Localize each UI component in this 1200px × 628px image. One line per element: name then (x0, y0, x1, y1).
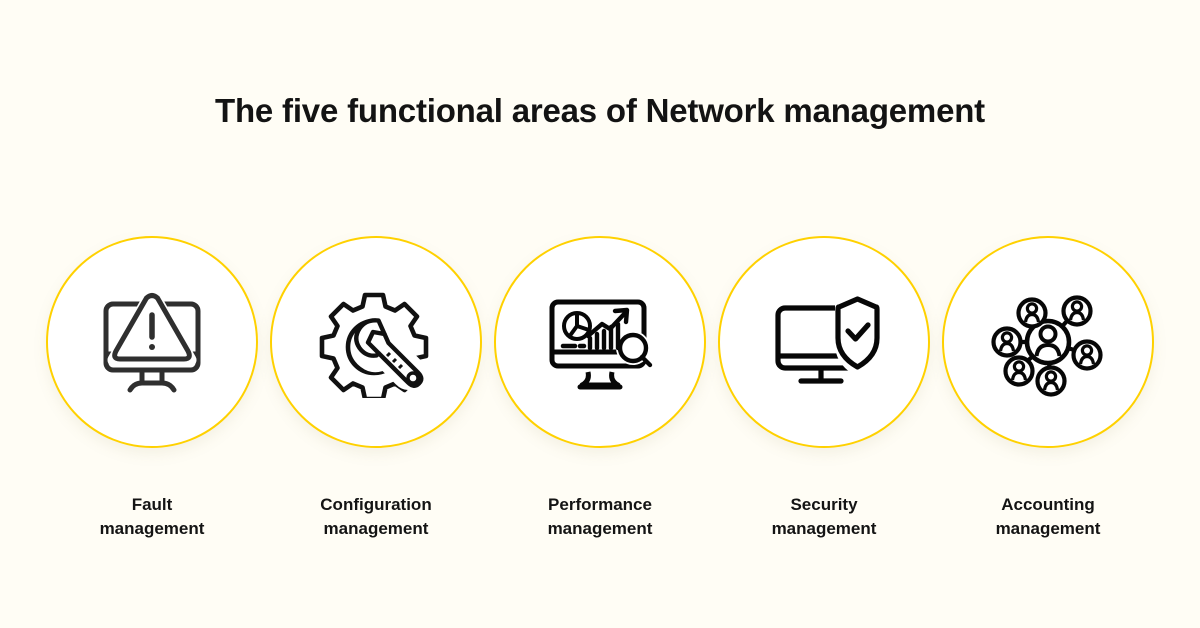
icon-circle (270, 236, 482, 448)
card-label-line1: Configuration (320, 495, 431, 514)
card-label-line2: management (772, 517, 877, 541)
card-label-line2: management (320, 517, 431, 541)
monitor-warning-icon (92, 286, 212, 398)
card-label-line1: Performance (548, 495, 652, 514)
icon-circle (718, 236, 930, 448)
icon-circle (942, 236, 1154, 448)
user-network-icon (988, 286, 1108, 398)
card-fault-management: Fault management (46, 236, 258, 541)
icon-circle (494, 236, 706, 448)
card-label: Fault management (100, 493, 205, 541)
icon-circle (46, 236, 258, 448)
card-label-line2: management (548, 517, 653, 541)
cards-row: Fault management (46, 236, 1154, 541)
card-configuration-management: Configuration management (270, 236, 482, 541)
card-label: Configuration management (320, 493, 431, 541)
card-label: Security management (772, 493, 877, 541)
page-title: The five functional areas of Network man… (0, 92, 1200, 130)
card-label: Accounting management (996, 493, 1101, 541)
card-accounting-management: Accounting management (942, 236, 1154, 541)
card-performance-management: Performance management (494, 236, 706, 541)
card-label: Performance management (548, 493, 653, 541)
card-security-management: Security management (718, 236, 930, 541)
card-label-line2: management (996, 517, 1101, 541)
gear-wrench-icon (316, 286, 436, 398)
card-label-line1: Accounting (1001, 495, 1095, 514)
monitor-shield-check-icon (764, 286, 884, 398)
card-label-line1: Fault (132, 495, 173, 514)
card-label-line1: Security (790, 495, 857, 514)
infographic-page: The five functional areas of Network man… (0, 0, 1200, 628)
monitor-analytics-icon (540, 286, 660, 398)
card-label-line2: management (100, 517, 205, 541)
